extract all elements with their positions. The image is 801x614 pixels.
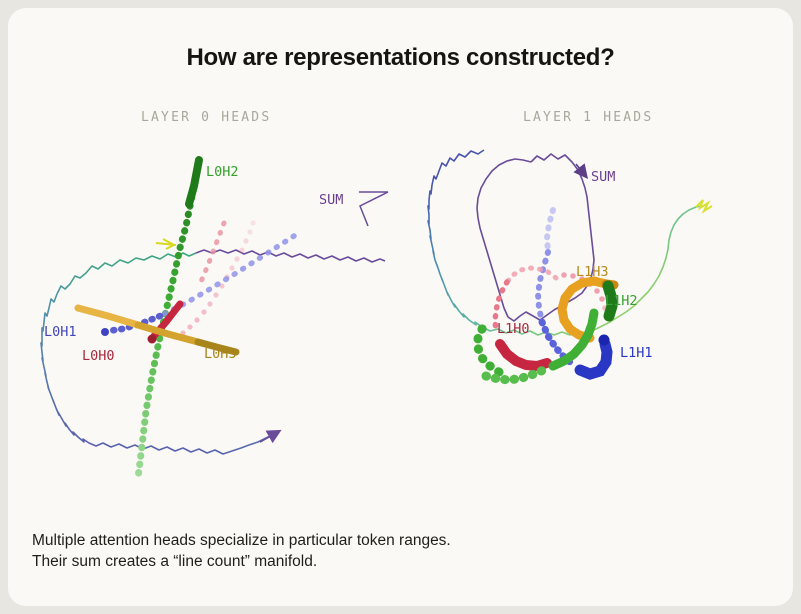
series-label-sum-right: SUM xyxy=(591,169,615,185)
caption-line-2: Their sum creates a “line count” manifol… xyxy=(32,551,732,572)
sum-leader-left xyxy=(359,192,388,226)
page-title: How are representations constructed? xyxy=(8,44,793,72)
series-l0h0 xyxy=(148,223,225,344)
yellow-marker-left xyxy=(156,239,176,249)
sum-tail-left xyxy=(196,250,385,262)
series-pink-left xyxy=(180,220,255,335)
series-label-l1h3: L1H3 xyxy=(576,264,609,280)
series-label-l1h0: L1H0 xyxy=(497,321,530,337)
series-label-l0h3: L0H3 xyxy=(204,346,237,362)
panel-header-layer0: LAYER 0 HEADS xyxy=(141,110,271,125)
series-label-l0h2: L0H2 xyxy=(206,164,239,180)
series-label-l0h0: L0H0 xyxy=(82,348,115,364)
sum-arrowhead-left xyxy=(260,433,276,442)
series-label-l0h1: L0H1 xyxy=(44,324,77,340)
caption: Multiple attention heads specialize in p… xyxy=(32,530,732,572)
layer0-panel: L0H2 L0H1 L0H0 L0H3 xyxy=(41,160,388,478)
series-l1h0 xyxy=(495,268,556,366)
trajectory-plot: L0H2 L0H1 L0H0 L0H3 xyxy=(8,126,793,516)
panel-header-layer1: LAYER 1 HEADS xyxy=(523,110,653,125)
caption-line-1: Multiple attention heads specialize in p… xyxy=(32,530,732,551)
series-label-l1h2: L1H2 xyxy=(605,293,638,309)
yellow-end-right xyxy=(696,200,712,211)
layer1-panel: L1H1 L1H0 L1H xyxy=(428,150,712,380)
series-label-l1h1: L1H1 xyxy=(620,345,653,361)
series-label-sum-left: SUM xyxy=(319,192,343,208)
slide-card: How are representations constructed? LAY… xyxy=(8,8,793,606)
